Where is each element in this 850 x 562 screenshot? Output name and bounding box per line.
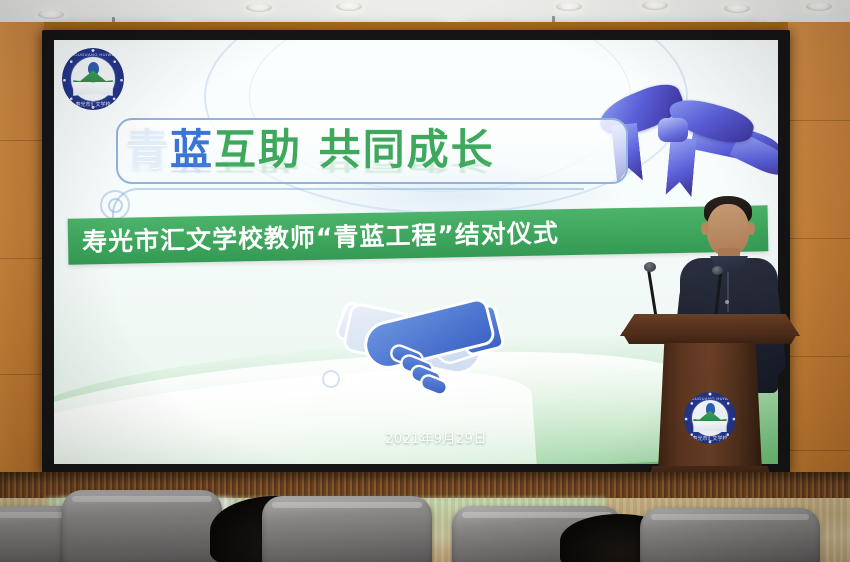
decorative-swirl-small-icon xyxy=(322,370,340,388)
wall-panel-right xyxy=(788,22,850,492)
slide-title-part-pale: 青 xyxy=(126,125,170,174)
slide-title: 青蓝互助 共同成长 xyxy=(126,122,626,178)
decorative-swirl-icon xyxy=(100,190,130,220)
slide-title-part-green: 互助 共同成长 xyxy=(214,125,495,174)
wall-top-strip xyxy=(0,22,850,30)
auditorium-seat xyxy=(640,508,820,562)
slide-title-part-blue: 蓝 xyxy=(170,125,214,174)
podium-school-emblem-icon: SHOUGUANG HUIWEN SCHOOL 寿光市汇文学校 xyxy=(684,392,736,444)
slide-date: 2021年9月29日 xyxy=(346,428,526,447)
wall-panel-left xyxy=(0,22,44,492)
emblem-chinese-text: 寿光市汇文学校 xyxy=(62,101,124,108)
auditorium-seat xyxy=(62,490,222,562)
ceiling-downlight xyxy=(336,2,362,11)
school-emblem-icon: SHOUGUANG HUIWEN SCHOOL 寿光市汇文学校 xyxy=(62,48,124,110)
handshake-icon xyxy=(342,302,502,394)
ceiling-downlight xyxy=(246,3,272,12)
podium-lip xyxy=(618,332,802,344)
auditorium-scene: SHOUGUANG HUIWEN SCHOOL 寿光市汇文学校 xyxy=(0,0,850,562)
ceiling-downlight xyxy=(556,2,582,11)
ceiling-downlight xyxy=(806,2,832,11)
microphone-icon xyxy=(644,262,656,272)
ceiling-downlight xyxy=(724,4,750,13)
auditorium-seat xyxy=(262,496,432,562)
microphone-icon-2 xyxy=(712,266,723,275)
ceiling-downlight xyxy=(38,10,64,19)
ceiling-downlight xyxy=(642,1,668,10)
podium-emblem-chinese-text: 寿光市汇文学校 xyxy=(684,435,736,442)
